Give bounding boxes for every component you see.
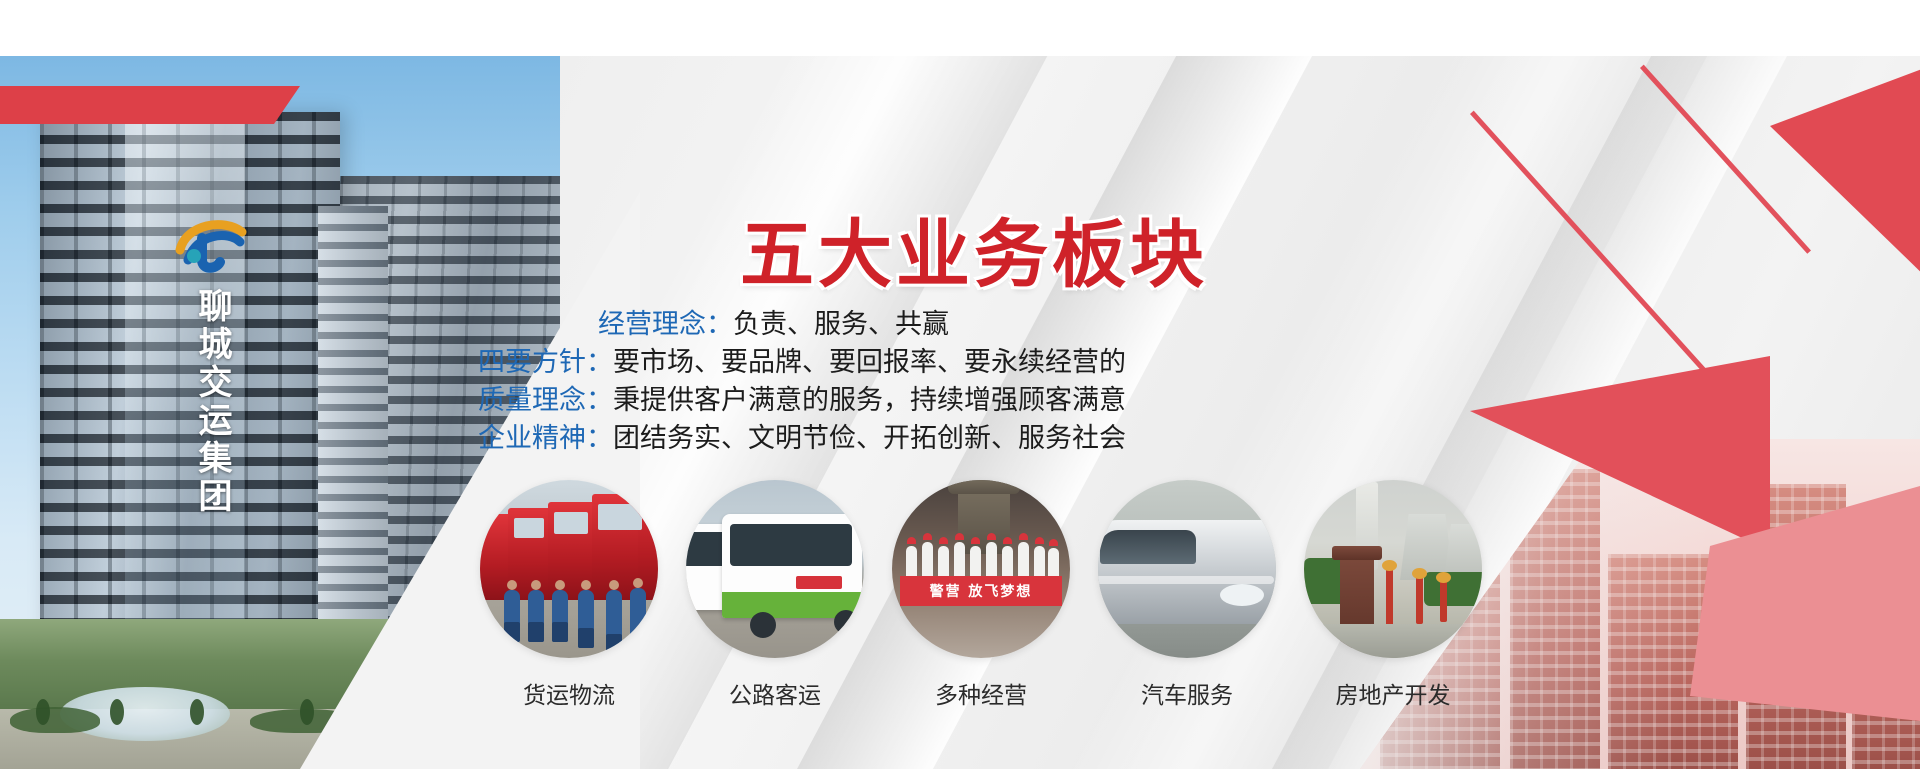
principle-row: 企业精神： 团结务实、文明节俭、开拓创新、服务社会 <box>420 420 1420 458</box>
principle-label: 四要方针： <box>478 344 613 382</box>
real-estate-street-photo <box>1304 480 1482 658</box>
segment-label: 房地产开发 <box>1304 676 1482 710</box>
segment-label: 货运物流 <box>480 676 658 710</box>
segment-item-diversified[interactable]: 警营 放飞梦想 多种经营 <box>892 480 1070 710</box>
segment-label: 汽车服务 <box>1098 676 1276 710</box>
segment-item-real-estate[interactable]: 房地产开发 <box>1304 480 1482 710</box>
content-layer: 五大业务板块 经营理念： 负责、服务、共赢 四要方针： 要市场、要品牌、要回报率… <box>0 56 1920 769</box>
principle-label: 经营理念： <box>598 306 733 344</box>
top-white-strip <box>0 0 1920 56</box>
principle-row: 四要方针： 要市场、要品牌、要回报率、要永续经营的 <box>420 344 1420 382</box>
freight-trucks-photo <box>480 480 658 658</box>
segment-circles-row: 货运物流 公路客运 <box>480 480 1480 720</box>
page-title: 五大业务板块 <box>740 218 1208 292</box>
principle-value: 负责、服务、共赢 <box>733 306 949 344</box>
principle-label: 质量理念： <box>478 382 613 420</box>
principles-list: 经营理念： 负责、服务、共赢 四要方针： 要市场、要品牌、要回报率、要永续经营的… <box>420 306 1420 458</box>
principle-label: 企业精神： <box>478 420 613 458</box>
segment-item-auto-service[interactable]: 汽车服务 <box>1098 480 1276 710</box>
segment-item-coach[interactable]: 公路客运 <box>686 480 864 710</box>
principle-row: 经营理念： 负责、服务、共赢 <box>420 306 1420 344</box>
children-camp-photo: 警营 放飞梦想 <box>892 480 1070 658</box>
principle-value: 团结务实、文明节俭、开拓创新、服务社会 <box>613 420 1126 458</box>
principle-row: 质量理念： 秉提供客户满意的服务，持续增强顾客满意 <box>420 382 1420 420</box>
segment-item-freight[interactable]: 货运物流 <box>480 480 658 710</box>
camp-banner-text: 警营 放飞梦想 <box>900 576 1062 606</box>
coach-bus-photo <box>686 480 864 658</box>
principle-value: 秉提供客户满意的服务，持续增强顾客满意 <box>613 382 1126 420</box>
business-segments-banner: 聊城交运集团 <box>0 0 1920 769</box>
segment-label: 公路客运 <box>686 676 864 710</box>
street-road <box>1304 624 1482 658</box>
principle-value: 要市场、要品牌、要回报率、要永续经营的 <box>613 344 1126 382</box>
segment-label: 多种经营 <box>892 676 1070 710</box>
silver-van-photo <box>1098 480 1276 658</box>
artwork-area: 聊城交运集团 <box>0 56 1920 769</box>
